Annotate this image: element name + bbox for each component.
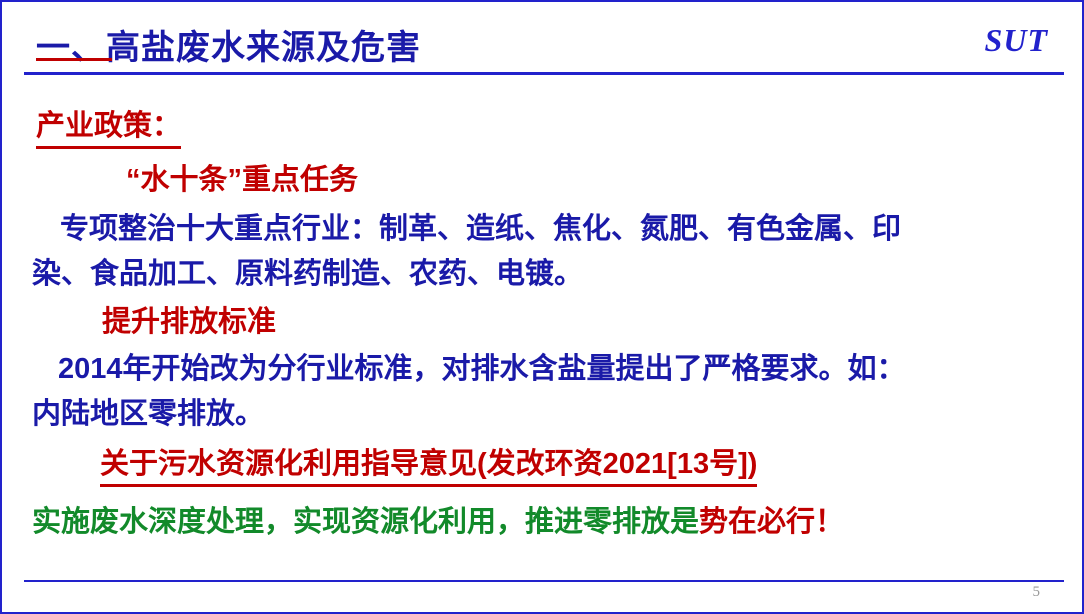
footer-divider xyxy=(24,580,1064,582)
conclusion-line: 实施废水深度处理，实现资源化利用，推进零排放是势在必行！ xyxy=(32,498,844,540)
slide-body: 产业政策： “水十条”重点任务 专项整治十大重点行业：制革、造纸、焦化、氮肥、有… xyxy=(2,80,1082,580)
industry-line-1: 专项整治十大重点行业：制革、造纸、焦化、氮肥、有色金属、印 xyxy=(60,205,901,247)
standard-line-2: 内陆地区零排放。 xyxy=(32,390,264,432)
guidance-heading: 关于污水资源化利用指导意见(发改环资2021[13号]) xyxy=(100,440,757,487)
sut-logo: SUT xyxy=(985,22,1048,59)
subheading-raise-standard: 提升排放标准 xyxy=(102,298,276,340)
conclusion-text-green: 实施废水深度处理，实现资源化利用，推进零排放是 xyxy=(32,506,699,538)
policy-heading: 产业政策： xyxy=(36,102,181,149)
slide-canvas: 一、高盐废水来源及危害 SUT 产业政策： “水十条”重点任务 专项整治十大重点… xyxy=(0,0,1084,614)
title-accent-underline xyxy=(36,58,112,61)
header-divider xyxy=(24,72,1064,75)
industry-line-2: 染、食品加工、原料药制造、农药、电镀。 xyxy=(32,250,583,292)
page-title: 一、高盐废水来源及危害 xyxy=(36,20,421,69)
page-number: 5 xyxy=(1033,584,1041,601)
conclusion-text-red: 势在必行！ xyxy=(699,506,844,538)
slide-header: 一、高盐废水来源及危害 SUT xyxy=(2,2,1082,80)
standard-line-1: 2014年开始改为分行业标准，对排水含盐量提出了严格要求。如： xyxy=(58,345,906,387)
subheading-water-ten: “水十条”重点任务 xyxy=(126,156,358,198)
